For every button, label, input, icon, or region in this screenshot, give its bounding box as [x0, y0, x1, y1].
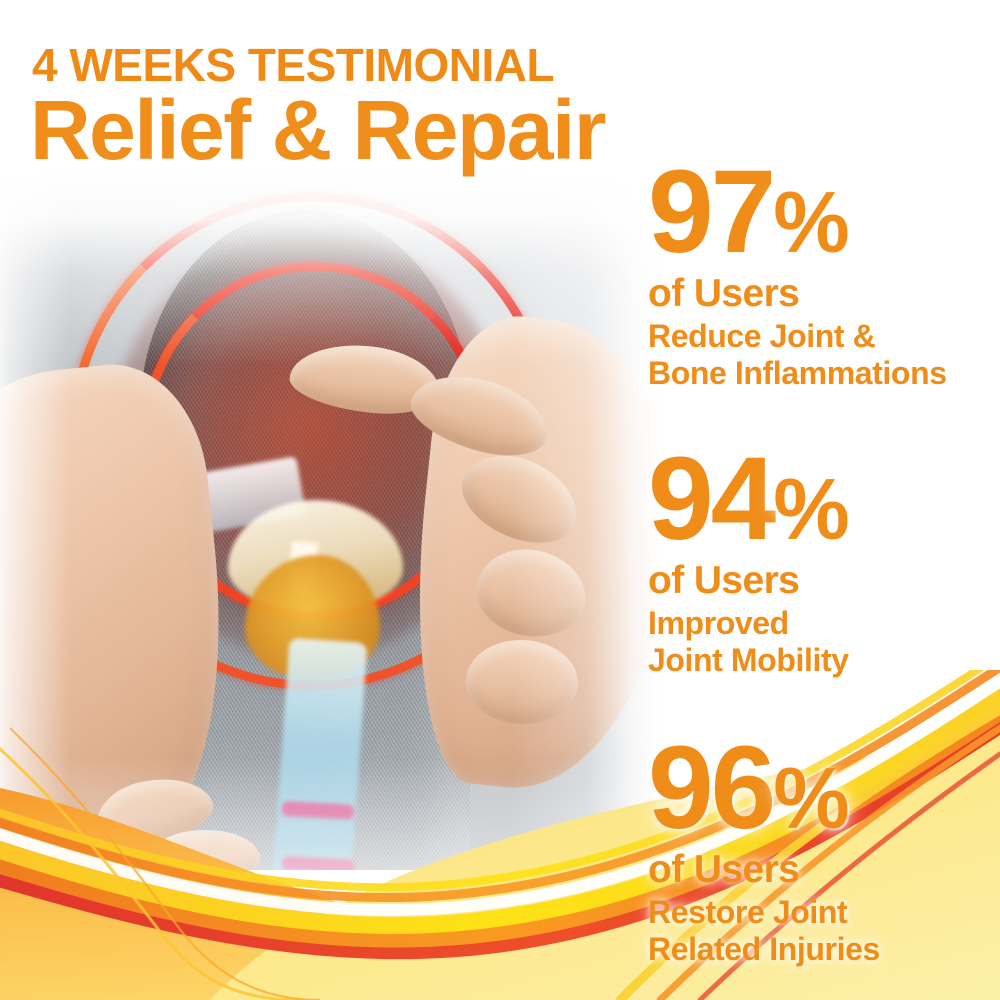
- stat-users-label-3: of Users: [648, 848, 1000, 892]
- stat-description-1: Reduce Joint & Bone Inflammations: [648, 318, 1000, 392]
- stat-number-3: 96%: [648, 732, 1000, 844]
- stat-users-label-2: of Users: [648, 559, 1000, 603]
- percent-sign-3: %: [773, 751, 847, 847]
- stat-block-2: 94% of Users Improved Joint Mobility: [648, 443, 1000, 679]
- stat-desc-line: Reduce Joint &: [648, 318, 1000, 355]
- stat-desc-line: Bone Inflammations: [648, 355, 1000, 392]
- stat-desc-line: Improved: [648, 605, 1000, 642]
- stat-block-3: 96% of Users Restore Joint Related Injur…: [648, 732, 1000, 968]
- stat-value-1: 97: [648, 146, 773, 278]
- percent-sign-1: %: [773, 175, 847, 271]
- page-title: Relief & Repair: [30, 88, 605, 172]
- stat-desc-line: Joint Mobility: [648, 642, 1000, 679]
- stat-description-3: Restore Joint Related Injuries: [648, 894, 1000, 968]
- stat-value-3: 96: [648, 722, 773, 854]
- stat-description-2: Improved Joint Mobility: [648, 605, 1000, 679]
- stat-desc-line: Related Injuries: [648, 931, 1000, 968]
- stat-number-1: 97%: [648, 156, 1000, 268]
- stat-users-label-1: of Users: [648, 272, 1000, 316]
- percent-sign-2: %: [773, 462, 847, 558]
- stat-block-1: 97% of Users Reduce Joint & Bone Inflamm…: [648, 156, 1000, 392]
- stat-desc-line: Restore Joint: [648, 894, 1000, 931]
- promo-poster: 4 WEEKS TESTIMONIAL Relief & Repair 97% …: [0, 0, 1000, 1000]
- stat-value-2: 94: [648, 433, 773, 565]
- stat-number-2: 94%: [648, 443, 1000, 555]
- knee-photo: [0, 170, 660, 870]
